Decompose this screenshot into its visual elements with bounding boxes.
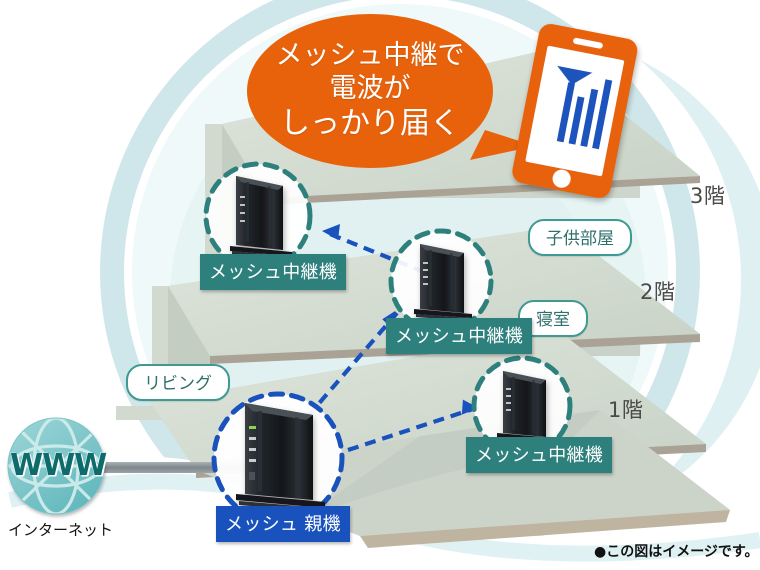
device-label-repeater-2f: メッシュ中継機 — [386, 318, 532, 354]
footnote: ●この図はイメージです。 — [594, 541, 759, 561]
device-label-repeater-1f: メッシュ中継機 — [466, 437, 612, 473]
device-repeater-1f-body — [497, 371, 553, 445]
speech-bubble-text: メッシュ中継で 電波が しっかり届く — [248, 40, 492, 142]
bubble-line-1: メッシュ中継で — [248, 40, 492, 73]
floor-label-3f: 3階 — [690, 180, 725, 210]
bubble-line-2: 電波が — [248, 73, 492, 106]
device-label-repeater-3f: メッシュ中継機 — [200, 254, 346, 290]
room-label-living: リビング — [126, 364, 230, 401]
device-label-mesh-parent: メッシュ 親機 — [216, 506, 350, 542]
diagram-canvas: メッシュ中継で 電波が しっかり届く 3階 2階 1階 子供部屋 寝室 リビング… — [0, 0, 760, 570]
floor-label-1f: 1階 — [608, 394, 643, 424]
bubble-line-3: しっかり届く — [248, 106, 492, 143]
floor-label-2f: 2階 — [640, 276, 675, 306]
globe-www-text: WWW — [10, 448, 106, 483]
device-mesh-parent-body — [236, 403, 325, 512]
room-label-kids: 子供部屋 — [528, 219, 632, 256]
internet-label: インターネット — [8, 519, 113, 540]
